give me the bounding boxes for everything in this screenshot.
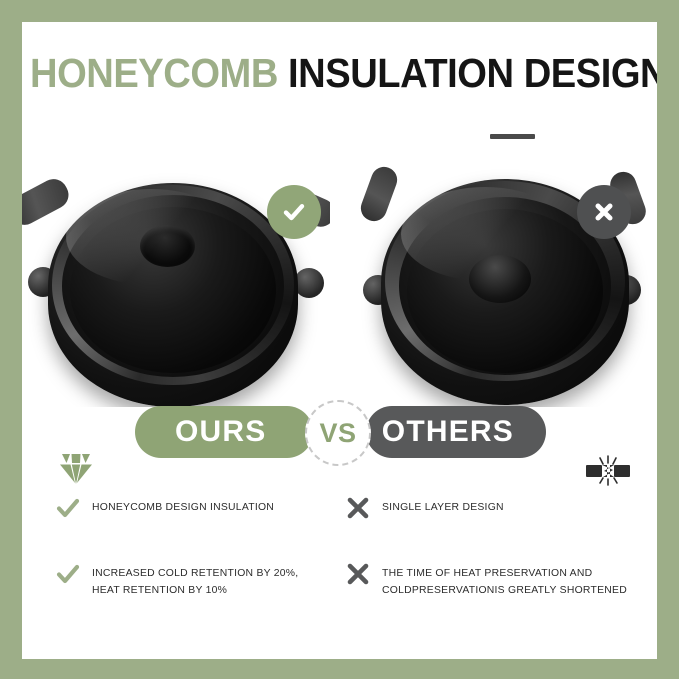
feature-line: HEAT RETENTION BY 10% bbox=[92, 583, 298, 600]
versus-strip: OURS OTHERS VS bbox=[22, 406, 657, 478]
badge-check-ours bbox=[267, 185, 321, 239]
cross-icon bbox=[344, 560, 372, 588]
label-ours: OURS bbox=[135, 406, 313, 458]
title-rest: INSULATION DESIGN bbox=[278, 50, 657, 96]
check-icon bbox=[53, 560, 83, 590]
versus-badge: VS bbox=[305, 400, 371, 466]
feature-comparison: HONEYCOMB DESIGN INSULATION INCREASED CO… bbox=[22, 492, 657, 642]
feature-text: INCREASED COLD RETENTION BY 20%, HEAT RE… bbox=[86, 566, 298, 599]
check-mark bbox=[50, 560, 86, 590]
product-photo-ours bbox=[22, 163, 330, 407]
feature-text: THE TIME OF HEAT PRESERVATION AND COLDPR… bbox=[376, 566, 627, 599]
title-highlight: HONEYCOMB bbox=[30, 50, 278, 96]
cross-icon bbox=[344, 494, 372, 522]
feature-row: HONEYCOMB DESIGN INSULATION bbox=[50, 500, 274, 524]
pot-center-knob bbox=[469, 255, 531, 303]
poster-inner: HONEYCOMB INSULATION DESIGN bbox=[22, 22, 657, 659]
poster-frame: HONEYCOMB INSULATION DESIGN bbox=[0, 0, 679, 679]
broken-bar-icon bbox=[584, 452, 632, 493]
divider-dash-icon bbox=[490, 134, 535, 139]
check-icon bbox=[53, 494, 83, 524]
cross-mark bbox=[340, 560, 376, 588]
cross-icon bbox=[589, 197, 619, 227]
cross-mark bbox=[340, 494, 376, 522]
feature-line: COLDPRESERVATIONIS GREATLY SHORTENED bbox=[382, 583, 627, 600]
feature-row: SINGLE LAYER DESIGN bbox=[340, 500, 504, 522]
feature-row: THE TIME OF HEAT PRESERVATION AND COLDPR… bbox=[340, 566, 627, 599]
feature-line: INCREASED COLD RETENTION BY 20%, bbox=[92, 568, 298, 579]
product-photo-others bbox=[345, 163, 657, 407]
pot-handle-left bbox=[22, 174, 73, 230]
feature-text: SINGLE LAYER DESIGN bbox=[376, 500, 504, 517]
pot-handle-left bbox=[357, 163, 401, 225]
pot-lid-hole bbox=[140, 225, 195, 267]
label-others: OTHERS bbox=[366, 406, 546, 458]
feature-row: INCREASED COLD RETENTION BY 20%, HEAT RE… bbox=[50, 566, 298, 599]
check-icon bbox=[279, 197, 309, 227]
diamond-gem-icon bbox=[54, 450, 98, 493]
feature-line: THE TIME OF HEAT PRESERVATION AND bbox=[382, 568, 592, 579]
feature-line: SINGLE LAYER DESIGN bbox=[382, 502, 504, 513]
pot-handle-right-joint bbox=[294, 268, 324, 298]
page-title: HONEYCOMB INSULATION DESIGN bbox=[30, 50, 611, 96]
feature-text: HONEYCOMB DESIGN INSULATION bbox=[86, 500, 274, 517]
check-mark bbox=[50, 494, 86, 524]
badge-cross-others bbox=[577, 185, 631, 239]
feature-line: HONEYCOMB DESIGN INSULATION bbox=[92, 502, 274, 513]
